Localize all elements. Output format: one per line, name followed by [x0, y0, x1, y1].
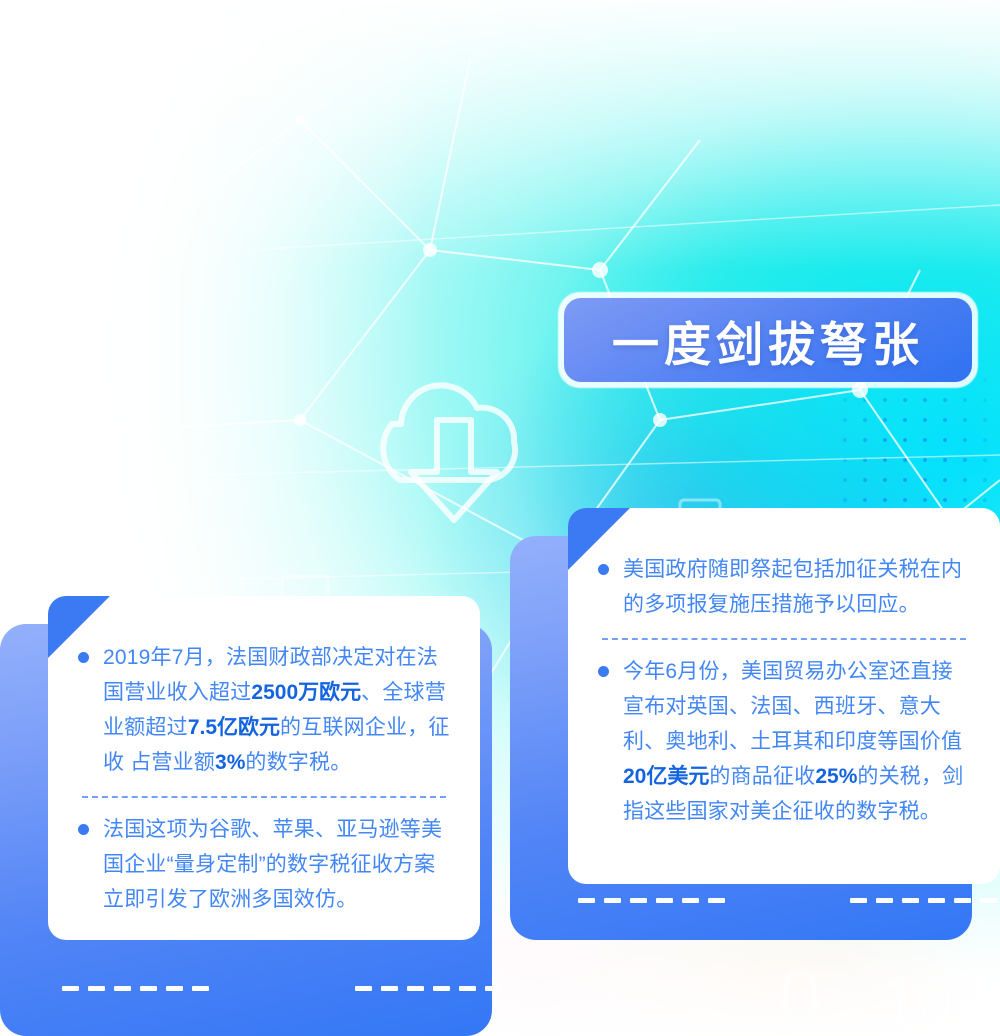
card-right-panel: 美国政府随即祭起包括加征关税在内的多项报复施压措施予以回应。 今年6月份，美国贸…: [568, 508, 1000, 884]
bullet-text: 2019年7月，法国财政部决定对在法国营业收入超过2500万欧元、全球营业额超过…: [103, 640, 450, 780]
decorative-dashes: [355, 986, 502, 991]
card-left-panel: 2019年7月，法国财政部决定对在法国营业收入超过2500万欧元、全球营业额超过…: [48, 596, 480, 940]
binary-digit-0: 0: [778, 952, 821, 1036]
decorative-dashes: [850, 898, 997, 903]
card-right: 美国政府随即祭起包括加征关税在内的多项报复施压措施予以回应。 今年6月份，美国贸…: [510, 508, 1000, 940]
card-right-content: 美国政府随即祭起包括加征关税在内的多项报复施压措施予以回应。 今年6月份，美国贸…: [568, 508, 1000, 829]
binary-digit-1: 1: [975, 978, 1000, 1036]
bullet-dot-icon: [78, 652, 89, 663]
bullet-dot-icon: [598, 564, 609, 575]
bullet-text: 今年6月份，美国贸易办公室还直接宣布对英国、法国、西班牙、意大利、奥地利、土耳其…: [623, 654, 970, 829]
bullet-dot-icon: [598, 666, 609, 677]
list-item: 2019年7月，法国财政部决定对在法国营业收入超过2500万欧元、全球营业额超过…: [78, 640, 450, 780]
decorative-dashes: [62, 986, 209, 991]
list-item: 今年6月份，美国贸易办公室还直接宣布对英国、法国、西班牙、意大利、奥地利、土耳其…: [598, 654, 970, 829]
title-banner-text: 一度剑拔弩张: [612, 306, 924, 375]
title-banner-pill: 一度剑拔弩张: [564, 298, 972, 382]
infographic-canvas: 0 10 1 0 1 一度剑拔弩张 美国政府随即祭起包括加征关税在内的多项报复施…: [0, 0, 1000, 1036]
bullet-text: 美国政府随即祭起包括加征关税在内的多项报复施压措施予以回应。: [623, 552, 970, 622]
binary-digit-10: 10: [880, 962, 953, 1036]
title-banner: 一度剑拔弩张: [558, 292, 978, 388]
decorative-dashes: [578, 898, 725, 903]
list-item: 法国这项为谷歌、苹果、亚马逊等美国企业“量身定制”的数字税征收方案立即引发了欧洲…: [78, 812, 450, 917]
bullet-text: 法国这项为谷歌、苹果、亚马逊等美国企业“量身定制”的数字税征收方案立即引发了欧洲…: [103, 812, 450, 917]
card-left-content: 2019年7月，法国财政部决定对在法国营业收入超过2500万欧元、全球营业额超过…: [48, 596, 480, 917]
list-item: 美国政府随即祭起包括加征关税在内的多项报复施压措施予以回应。: [598, 552, 970, 622]
divider: [82, 796, 446, 798]
bullet-dot-icon: [78, 824, 89, 835]
divider: [602, 638, 966, 640]
card-left: 2019年7月，法国财政部决定对在法国营业收入超过2500万欧元、全球营业额超过…: [0, 588, 500, 1036]
